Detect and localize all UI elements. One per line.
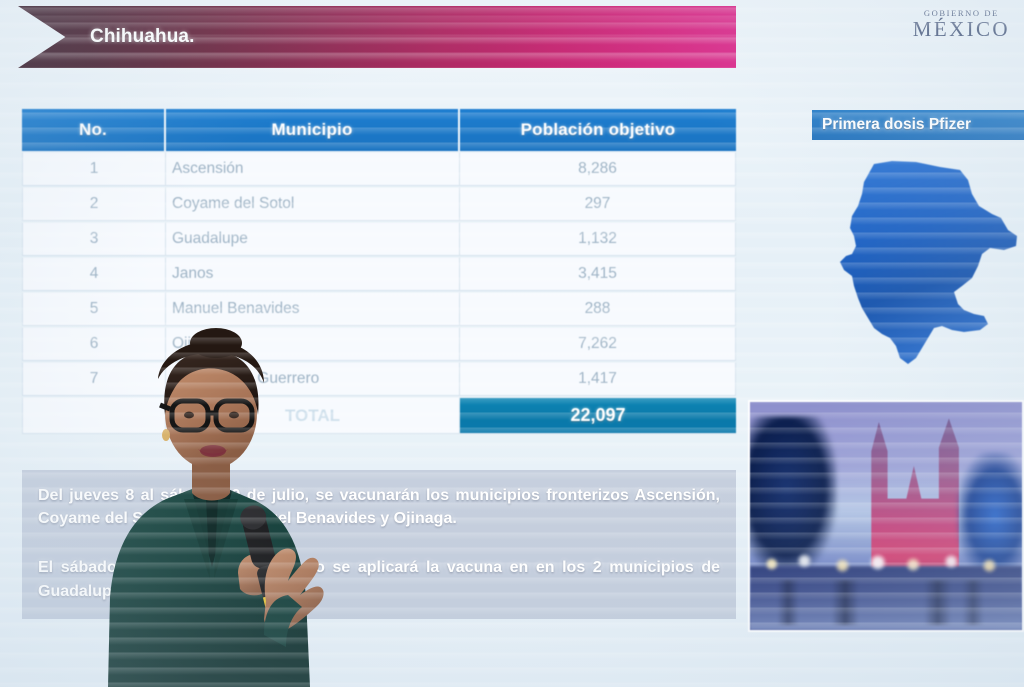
column-header-no: No. <box>22 109 166 151</box>
photo-content <box>750 402 1022 630</box>
primera-dosis-pfizer-label: Primera dosis Pfizer <box>812 110 1024 140</box>
page-title: Chihuahua. <box>90 26 194 48</box>
cell-no: 2 <box>22 187 166 221</box>
cell-poblacion: 8,286 <box>460 152 736 186</box>
cell-municipio: Guadalupe <box>166 222 460 256</box>
total-value: 22,097 <box>460 397 736 434</box>
cell-no: 3 <box>22 222 166 256</box>
photo-lights <box>750 548 1022 580</box>
column-header-poblacion: Población objetivo <box>460 109 736 151</box>
cell-poblacion: 3,415 <box>460 257 736 291</box>
cell-poblacion: 288 <box>460 292 736 326</box>
logo-line-mexico: MÉXICO <box>913 18 1010 40</box>
table-header-row: No. Municipio Población objetivo <box>22 109 736 151</box>
table-row: 3 Guadalupe 1,132 <box>22 222 736 256</box>
cell-municipio: Ascensión <box>166 152 460 186</box>
table-header: No. Municipio Población objetivo <box>22 109 736 151</box>
cell-municipio: Coyame del Sotol <box>166 187 460 221</box>
speaker-silhouette <box>88 267 378 687</box>
chihuahua-state-map <box>812 158 1024 393</box>
cell-poblacion: 1,132 <box>460 222 736 256</box>
table-row: 2 Coyame del Sotol 297 <box>22 187 736 221</box>
photo-people <box>750 580 1022 626</box>
chihuahua-cathedral-plaza-photo <box>748 400 1024 632</box>
cell-poblacion: 297 <box>460 187 736 221</box>
presentation-slide: Chihuahua. GOBIERNO DE MÉXICO No. Munici… <box>0 0 1024 687</box>
slide-title-banner: Chihuahua. <box>18 6 736 68</box>
column-header-municipio: Municipio <box>166 109 460 151</box>
cell-poblacion: 1,417 <box>460 362 736 396</box>
cell-poblacion: 7,262 <box>460 327 736 361</box>
cell-no: 1 <box>22 152 166 186</box>
gobierno-de-mexico-logo: GOBIERNO DE MÉXICO <box>913 8 1010 40</box>
table-row: 1 Ascensión 8,286 <box>22 152 736 186</box>
